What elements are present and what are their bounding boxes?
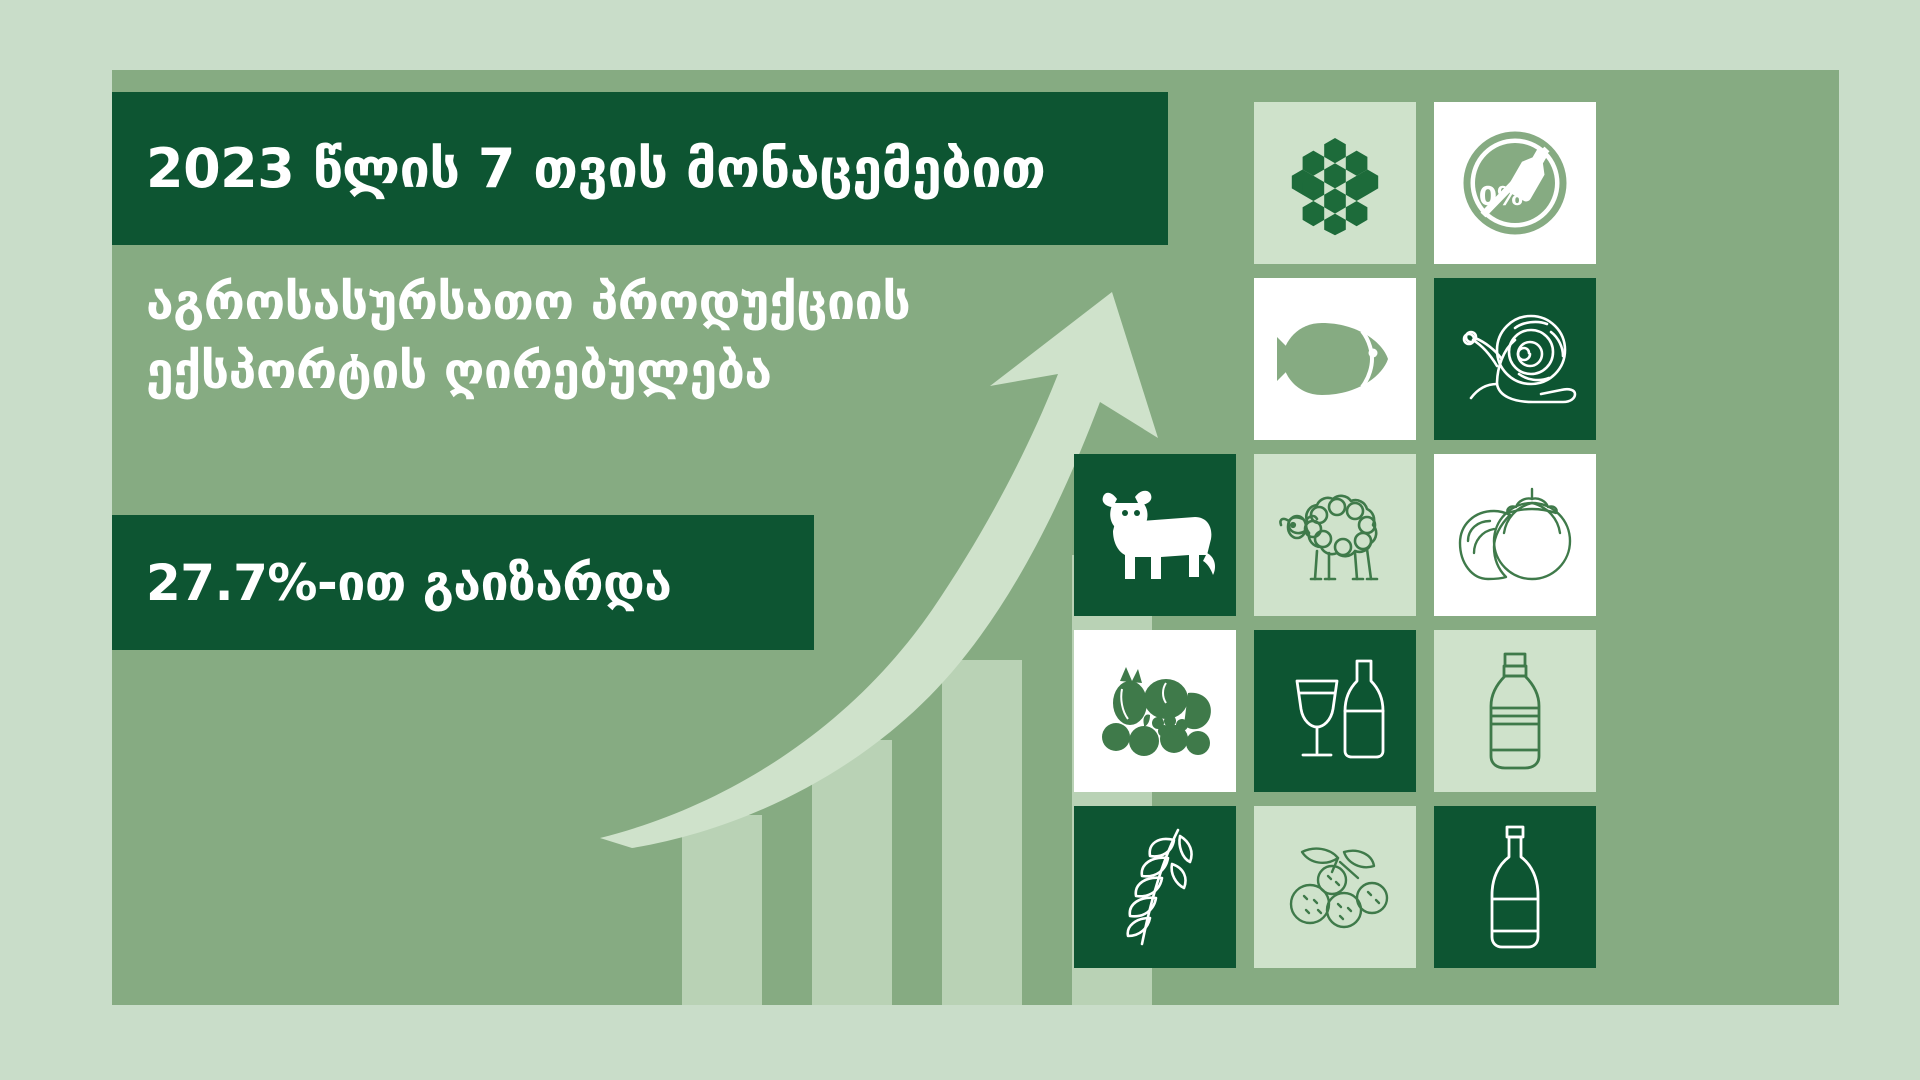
mosaic-tile-cow [1074, 454, 1236, 616]
poster-panel: 2023 წლის 7 თვის მონაცემებით აგროსასურსა… [112, 70, 1839, 1005]
fish-icon [1274, 313, 1396, 405]
fruits-vegetables-icon [1092, 659, 1218, 763]
poster-root: 2023 წლის 7 თვის მონაცემებით აგროსასურსა… [0, 0, 1920, 1080]
oil-bottle-icon [1482, 823, 1548, 951]
mosaic-tile-snail [1434, 278, 1596, 440]
chart-bar [812, 740, 892, 1005]
mosaic-tile-oil-bottle [1434, 806, 1596, 968]
mosaic-tile-wine [1254, 630, 1416, 792]
herb-branch-icon [1106, 824, 1204, 950]
water-bottle-icon [1479, 650, 1551, 772]
mosaic-tile-berries [1254, 806, 1416, 968]
headline-text: 2023 წლის 7 თვის მონაცემებით [146, 142, 1045, 196]
mosaic-tile-fish [1254, 278, 1416, 440]
chart-bar [682, 815, 762, 1005]
mosaic-tile-honeycomb [1254, 102, 1416, 264]
subtitle-line-1: აგროსასურსათო პროდუქციის [146, 268, 1146, 337]
no-alcohol-label: 0% [1479, 182, 1523, 212]
stat-text: 27.7%-ით გაიზარდა [146, 558, 671, 608]
mosaic-tile-fruits-vegetables [1074, 630, 1236, 792]
no-alcohol-icon: 0% [1455, 123, 1575, 243]
mosaic-tile-sheep [1254, 454, 1416, 616]
tomato-melon-icon [1452, 483, 1578, 587]
subtitle-block: აგროსასურსათო პროდუქციის ექსპორტის ღირებ… [146, 268, 1146, 406]
subtitle-line-2: ექსპორტის ღირებულება [146, 337, 1146, 406]
mosaic-tile-no-alcohol: 0% [1434, 102, 1596, 264]
headline-banner: 2023 წლის 7 თვის მონაცემებით [112, 92, 1168, 245]
wine-glass-bottle-icon [1275, 655, 1395, 767]
honeycomb-icon [1281, 129, 1389, 237]
mosaic-tile-water-bottle [1434, 630, 1596, 792]
snail-icon [1451, 306, 1579, 412]
chart-bar [942, 660, 1022, 1005]
mosaic-tile-tomato-melon [1434, 454, 1596, 616]
mosaic-tile-herb [1074, 806, 1236, 968]
cow-icon [1091, 483, 1219, 587]
sheep-icon [1273, 481, 1397, 589]
icon-mosaic: 0% [1052, 82, 1832, 942]
berries-icon [1274, 838, 1396, 936]
stat-banner: 27.7%-ით გაიზარდა [112, 515, 814, 650]
